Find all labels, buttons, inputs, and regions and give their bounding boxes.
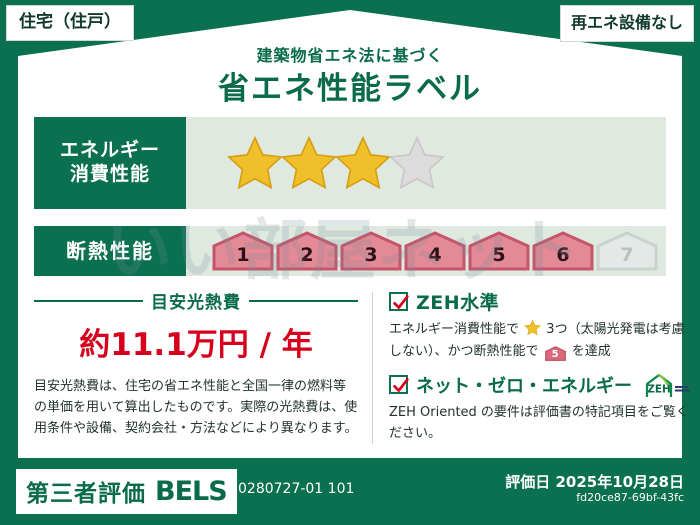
zeh-body-part1: エネルギー消費性能で xyxy=(389,322,519,337)
utility-cost-heading: 目安光熱費 xyxy=(34,288,358,313)
energy-performance-label: エネルギー 消費性能 xyxy=(34,117,186,209)
net-zero-energy-title: ネット・ゼロ・エネルギー xyxy=(416,372,632,398)
insulation-grade-scale: 1234567 xyxy=(186,226,666,276)
utility-cost-value: 約11.1万円 / 年 xyxy=(34,319,358,364)
badge-renewable-equipment: 再エネ設備なし xyxy=(560,5,694,42)
house-pentagon-icon-filled: 5 xyxy=(468,231,530,271)
zeh-body-part2: を達成 xyxy=(572,344,611,359)
pentagon-grade-number: 1 xyxy=(236,244,249,271)
net-zero-energy-header: ネット・ゼロ・エネルギー ZEH xyxy=(389,372,694,398)
rule-left xyxy=(34,300,143,302)
registration-number: 0280727-01 101 xyxy=(238,481,354,497)
zeh-standard-body: エネルギー消費性能で 3つ（太陽光発電は考慮しない）、かつ断熱性能で 5 を達成 xyxy=(389,319,694,363)
pentagon-grade-number: 3 xyxy=(364,244,377,271)
bels-certification-mark: 第三者評価 BELS xyxy=(16,469,237,514)
utility-cost-heading-text: 目安光熱費 xyxy=(151,288,241,313)
star-icon-inline xyxy=(524,319,541,336)
pentagon-grade-number: 4 xyxy=(428,244,441,271)
insulation-performance-row: 断熱性能 1234567 xyxy=(34,226,666,276)
rule-right xyxy=(249,300,358,302)
bels-logo-text: BELS xyxy=(155,476,227,507)
energy-label-line2: 消費性能 xyxy=(70,163,150,187)
house-pentagon-icon-empty: 7 xyxy=(596,231,658,271)
star-icon-filled xyxy=(334,134,392,192)
zeh-house-logo-icon: ZEH xyxy=(642,372,694,398)
zeh-standard-header: ZEH水準 xyxy=(389,288,694,315)
red-checkmark-icon xyxy=(389,375,408,394)
evaluation-uuid: fd20ce87-69bf-43fc xyxy=(576,491,684,504)
house-pentagon-icon-filled: 3 xyxy=(340,231,402,271)
zeh-standard-title: ZEH水準 xyxy=(416,288,499,315)
seine-performance-label: 住宅（住戸） 再エネ設備なし 建築物省エネ法に基づく 省エネ性能ラベル エネルギ… xyxy=(0,0,700,525)
pentagon-grade-number: 6 xyxy=(556,244,569,271)
star-icon-empty xyxy=(388,134,446,192)
red-checkmark-icon xyxy=(389,292,408,311)
page-title: 省エネ性能ラベル xyxy=(0,63,700,108)
house-pentagon-icon-filled: 1 xyxy=(212,231,274,271)
svg-text:ZEH: ZEH xyxy=(647,383,671,395)
badge-building-type: 住宅（住戸） xyxy=(6,5,134,41)
star-icon-filled xyxy=(226,134,284,192)
pentagon-grade-number: 7 xyxy=(620,244,633,271)
house-pentagon-icon-filled: 4 xyxy=(404,231,466,271)
net-zero-energy-body: ZEH Oriented の要件は評価書の特記項目をご覧ください。 xyxy=(389,402,694,446)
energy-star-rating xyxy=(186,117,666,209)
utility-cost-note: 目安光熱費は、住宅の省エネ性能と全国一律の燃料等の単価を用いて算出したものです。… xyxy=(34,376,358,439)
certification-panel: ZEH水準 エネルギー消費性能で 3つ（太陽光発電は考慮しない）、かつ断熱性能で… xyxy=(373,288,694,450)
pentagon-inline-number: 5 xyxy=(545,346,566,363)
house-pentagon-icon-filled: 6 xyxy=(532,231,594,271)
house-pentagon-icon-inline: 5 xyxy=(545,346,566,361)
pentagon-grade-number: 2 xyxy=(300,244,313,271)
evaluation-date: 評価日 2025年10月28日 xyxy=(505,471,684,492)
net-zero-energy-block: ネット・ゼロ・エネルギー ZEH ZEH Oriented の要件は評価書の特記… xyxy=(389,372,694,446)
insulation-performance-label: 断熱性能 xyxy=(34,226,186,276)
utility-cost-panel: 目安光熱費 約11.1万円 / 年 目安光熱費は、住宅の省エネ性能と全国一律の燃… xyxy=(34,288,372,450)
lower-section: 目安光熱費 約11.1万円 / 年 目安光熱費は、住宅の省エネ性能と全国一律の燃… xyxy=(34,288,666,450)
house-pentagon-icon-filled: 2 xyxy=(276,231,338,271)
energy-performance-row: エネルギー 消費性能 xyxy=(34,117,666,209)
zeh-standard-block: ZEH水準 エネルギー消費性能で 3つ（太陽光発電は考慮しない）、かつ断熱性能で… xyxy=(389,288,694,363)
pentagon-grade-number: 5 xyxy=(492,244,505,271)
energy-label-line1: エネルギー xyxy=(60,139,160,163)
third-party-eval-label: 第三者評価 xyxy=(26,474,146,508)
star-icon-filled xyxy=(280,134,338,192)
footer-bar: 第三者評価 BELS 0280727-01 101 評価日 2025年10月28… xyxy=(0,459,700,525)
